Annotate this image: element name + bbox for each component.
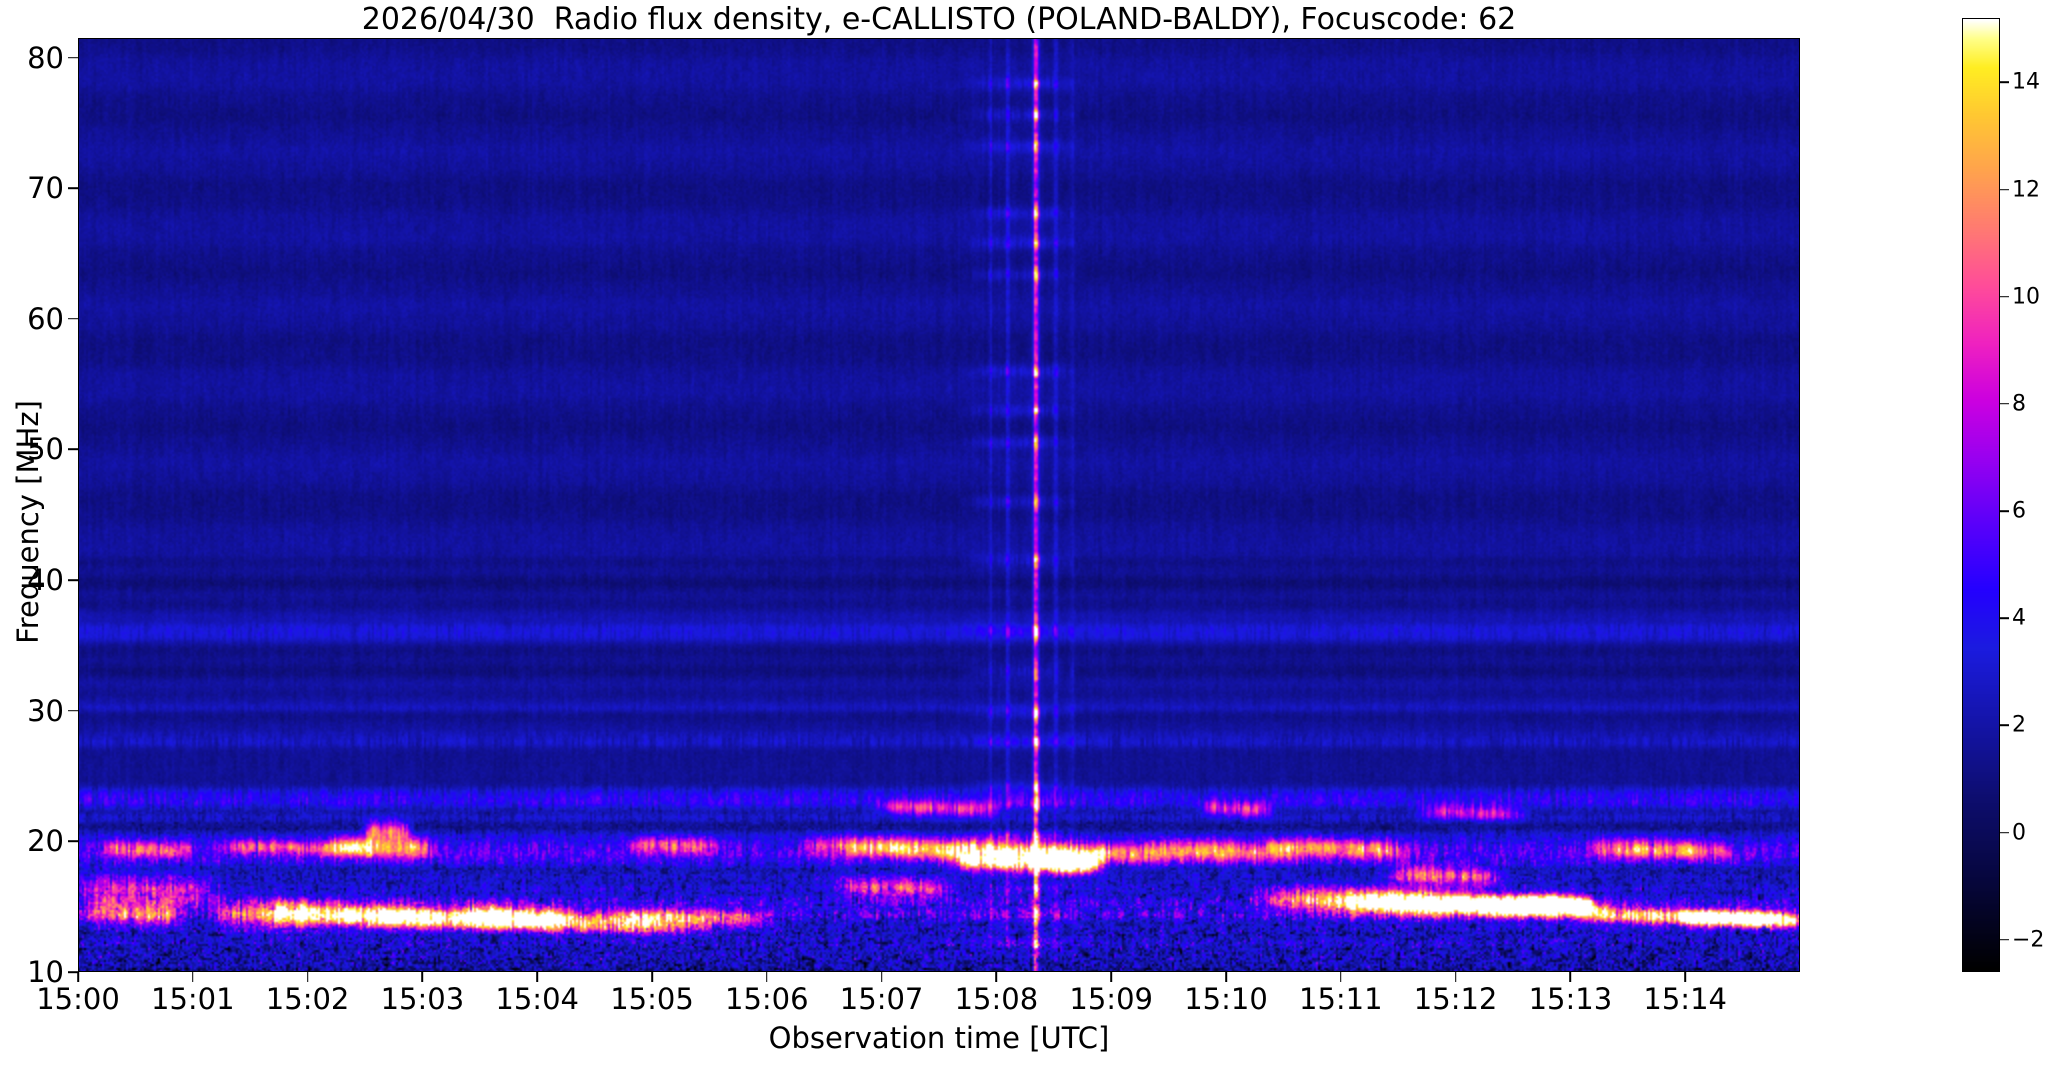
colorbar-tick-label: 4 [2012,606,2026,631]
colorbar-tick-mark [2000,189,2009,191]
y-axis-tick-label: 70 [27,171,64,205]
colorbar-tick-label: 12 [2012,177,2040,202]
colorbar-tick-label: 0 [2012,820,2026,845]
colorbar-tick-mark [2000,296,2009,298]
y-axis-tick-label: 20 [27,824,64,858]
colorbar-tick-mark [2000,510,2009,512]
x-axis-title: Observation time [UTC] [78,1021,1800,1055]
colorbar-tick-label: 6 [2012,499,2026,524]
colorbar-tick-mark [2000,725,2009,727]
colorbar-tick-mark [2000,939,2009,941]
y-axis-tick-label: 80 [27,41,64,75]
colorbar-tick-mark [2000,617,2009,619]
x-axis-tick-label: 15:00 [36,982,120,1016]
colorbar-tick-label: −2 [2012,927,2044,952]
colorbar-tick-label: 8 [2012,391,2026,416]
y-axis-title: Frequency [MHz] [11,372,45,672]
x-axis-tick-label: 15:07 [840,982,924,1016]
x-axis-tick-label: 15:13 [1529,982,1613,1016]
y-axis-tick-mark [68,449,78,451]
y-axis-tick-mark [68,187,78,189]
spectrogram-plot-area [78,38,1800,972]
x-axis-tick-label: 15:04 [495,982,579,1016]
x-axis-tick-mark [1110,972,1112,982]
x-axis-tick-label: 15:05 [610,982,694,1016]
colorbar-tick-mark [2000,832,2009,834]
x-axis-tick-mark [307,972,309,982]
x-axis-tick-mark [1570,972,1572,982]
colorbar [1962,18,2000,972]
x-axis-tick-label: 15:02 [266,982,350,1016]
x-axis-tick-label: 15:14 [1643,982,1727,1016]
x-axis-tick-mark [422,972,424,982]
colorbar-gradient [1963,19,1999,971]
x-axis-tick-mark [1684,972,1686,982]
colorbar-tick-mark [2000,403,2009,405]
x-axis-tick-mark [996,972,998,982]
y-axis-tick-mark [68,710,78,712]
x-axis-tick-mark [766,972,768,982]
x-axis-tick-label: 15:11 [1299,982,1383,1016]
x-axis-tick-label: 15:10 [1184,982,1268,1016]
y-axis-tick-mark [68,57,78,59]
colorbar-tick-label: 10 [2012,284,2040,309]
x-axis-tick-mark [1225,972,1227,982]
x-axis-tick-label: 15:12 [1414,982,1498,1016]
x-axis-tick-label: 15:09 [1069,982,1153,1016]
x-axis-tick-mark [881,972,883,982]
x-axis-tick-label: 15:03 [381,982,465,1016]
y-axis-tick-mark [68,318,78,320]
colorbar-tick-label: 2 [2012,713,2026,738]
x-axis-tick-mark [192,972,194,982]
spectrogram-image [78,38,1800,972]
x-axis-tick-label: 15:08 [955,982,1039,1016]
spectrogram-figure: 2026/04/30 Radio flux density, e-CALLIST… [0,0,2047,1067]
x-axis-tick-label: 15:01 [151,982,235,1016]
y-axis-tick-label: 30 [27,694,64,728]
x-axis-tick-label: 15:06 [725,982,809,1016]
x-axis-tick-mark [536,972,538,982]
x-axis-tick-mark [651,972,653,982]
colorbar-tick-mark [2000,82,2009,84]
x-axis-tick-mark [77,972,79,982]
y-axis-tick-label: 60 [27,302,64,336]
page-title: 2026/04/30 Radio flux density, e-CALLIST… [78,2,1800,37]
y-axis-tick-mark [68,841,78,843]
colorbar-tick-label: 14 [2012,70,2040,95]
x-axis-tick-mark [1340,972,1342,982]
x-axis-tick-mark [1455,972,1457,982]
y-axis-tick-mark [68,579,78,581]
